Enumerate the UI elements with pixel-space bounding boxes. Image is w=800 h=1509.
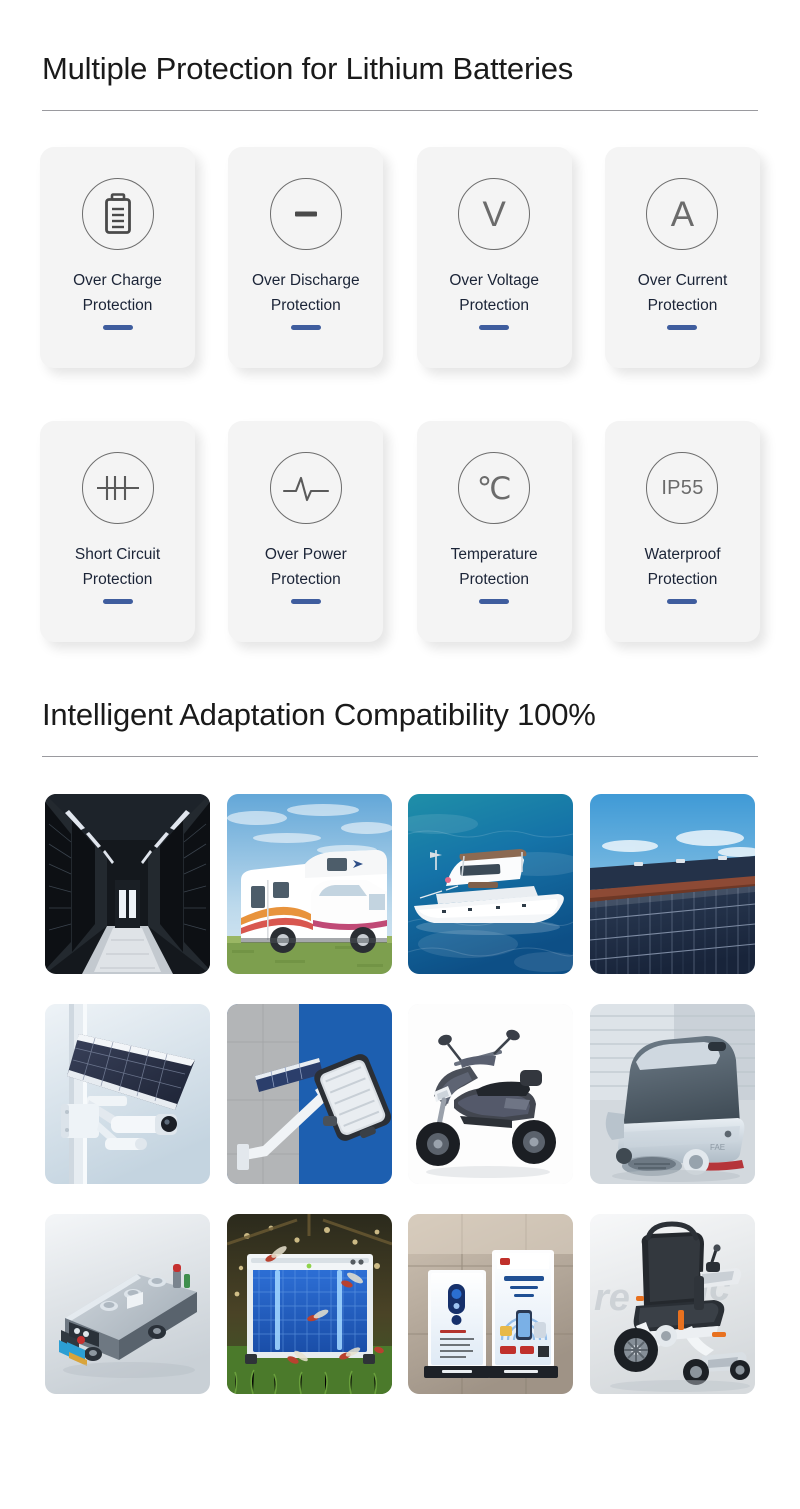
digital-signage-display[interactable]	[408, 1214, 573, 1394]
card-label-line1: Over Charge	[73, 272, 162, 289]
protection-card-label: Short Circuit Protection	[75, 542, 160, 592]
svg-text:re: re	[594, 1277, 630, 1319]
ip55-rating-icon: IP55	[646, 452, 718, 524]
gallery-row-2: FAE	[45, 1004, 755, 1184]
ampere-a-icon: A	[646, 178, 718, 250]
minus-circle-icon	[270, 178, 342, 250]
celsius-icon: ℃	[458, 452, 530, 524]
protection-card-label: Waterproof Protection	[644, 542, 720, 592]
rooftop-solar-panel-array[interactable]	[590, 794, 755, 974]
ip55-glyph: IP55	[661, 478, 703, 498]
celsius-glyph: ℃	[477, 473, 512, 504]
gallery-row-1	[45, 794, 755, 974]
page-title-applications: Intelligent Adaptation Compatibility 100…	[42, 698, 758, 732]
protection-card-short-circuit[interactable]: Short Circuit Protection	[40, 421, 195, 642]
battery-icon	[82, 178, 154, 250]
card-label-line1: Over Discharge	[252, 272, 360, 289]
card-label-line1: Waterproof	[644, 546, 720, 563]
protection-card-label: Over Voltage Protection	[449, 268, 539, 318]
electric-wheelchair[interactable]: renc	[590, 1214, 755, 1394]
page-title-protection: Multiple Protection for Lithium Batterie…	[42, 52, 758, 86]
protection-card-over-discharge[interactable]: Over Discharge Protection	[228, 147, 383, 368]
card-label-line2: Protection	[451, 567, 538, 592]
accent-bar	[479, 599, 509, 604]
card-label-line2: Protection	[73, 293, 162, 318]
protection-card-label: Temperature Protection	[451, 542, 538, 592]
accent-bar	[291, 325, 321, 330]
card-label-line2: Protection	[638, 293, 728, 318]
accent-bar	[103, 599, 133, 604]
protection-card-waterproof[interactable]: IP55 Waterproof Protection	[605, 421, 760, 642]
short-circuit-icon	[82, 452, 154, 524]
card-label-line2: Protection	[252, 293, 360, 318]
gallery-row-3: renc	[45, 1214, 755, 1394]
title-divider-1	[42, 110, 758, 111]
accent-bar	[479, 325, 509, 330]
card-label-line1: Short Circuit	[75, 546, 160, 563]
rv-camper-van[interactable]	[227, 794, 392, 974]
protection-card-over-current[interactable]: A Over Current Protection	[605, 147, 760, 368]
card-label-line2: Protection	[265, 567, 347, 592]
protection-card-temperature[interactable]: ℃ Temperature Protection	[417, 421, 572, 642]
accent-bar	[667, 325, 697, 330]
card-label-line1: Over Voltage	[449, 272, 539, 289]
insect-bug-zapper-lamp[interactable]	[227, 1214, 392, 1394]
page-root: Multiple Protection for Lithium Batterie…	[0, 0, 800, 1509]
protection-card-row-1: Over Charge Protection Over Discharge Pr…	[40, 147, 760, 368]
protection-card-row-2: Short Circuit Protection Over Power Prot…	[40, 421, 760, 642]
protection-cards: Over Charge Protection Over Discharge Pr…	[0, 147, 800, 642]
agv-warehouse-robot[interactable]	[45, 1214, 210, 1394]
accent-bar	[291, 599, 321, 604]
protection-card-label: Over Current Protection	[638, 268, 728, 318]
electric-scooter-motorcycle[interactable]	[408, 1004, 573, 1184]
protection-card-over-power[interactable]: Over Power Protection	[228, 421, 383, 642]
title-divider-2	[42, 756, 758, 757]
luxury-yacht-boat[interactable]	[408, 794, 573, 974]
pulse-wave-icon	[270, 452, 342, 524]
protection-section-header: Multiple Protection for Lithium Batterie…	[0, 0, 800, 111]
card-label-line2: Protection	[644, 567, 720, 592]
protection-card-label: Over Charge Protection	[73, 268, 162, 318]
voltage-v-icon: V	[458, 178, 530, 250]
card-label-line1: Temperature	[451, 546, 538, 563]
svg-text:FAE: FAE	[710, 1143, 725, 1152]
card-label-line1: Over Current	[638, 272, 728, 289]
protection-card-over-voltage[interactable]: V Over Voltage Protection	[417, 147, 572, 368]
floor-scrubber-machine[interactable]: FAE	[590, 1004, 755, 1184]
card-label-line2: Protection	[75, 567, 160, 592]
applications-section-header: Intelligent Adaptation Compatibility 100…	[0, 642, 800, 757]
accent-bar	[103, 325, 133, 330]
solar-surveillance-camera[interactable]	[45, 1004, 210, 1184]
data-center-server-room[interactable]	[45, 794, 210, 974]
ampere-a-glyph: A	[671, 197, 694, 232]
card-label-line2: Protection	[449, 293, 539, 318]
protection-card-label: Over Discharge Protection	[252, 268, 360, 318]
accent-bar	[667, 599, 697, 604]
protection-card-over-charge[interactable]: Over Charge Protection	[40, 147, 195, 368]
protection-card-label: Over Power Protection	[265, 542, 347, 592]
solar-street-light[interactable]	[227, 1004, 392, 1184]
voltage-v-glyph: V	[482, 197, 505, 232]
card-label-line1: Over Power	[265, 546, 347, 563]
applications-gallery: FAE	[0, 794, 800, 1394]
